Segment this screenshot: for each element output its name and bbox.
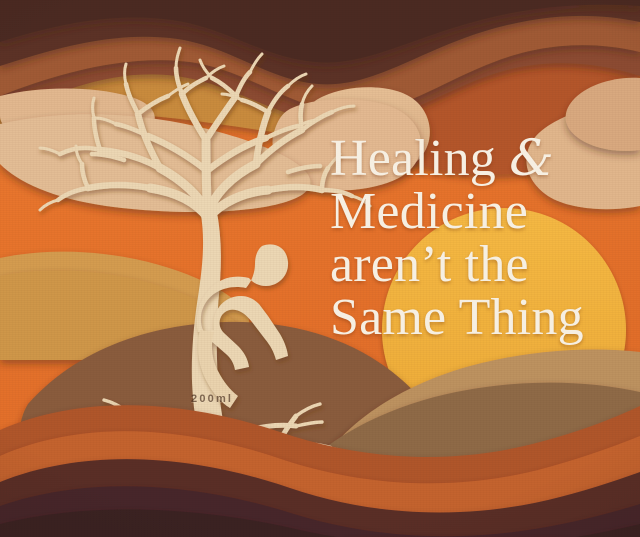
headline-line-4: Same Thing [330, 291, 640, 344]
headline-line-2: Medicine [330, 185, 640, 238]
headline-line-3: aren’t the [330, 238, 640, 291]
poster-canvas: 200ml Healing & Medicine aren’t the Same… [0, 0, 640, 537]
ampersand-glyph: & [509, 129, 554, 187]
watermark-text: 200ml [191, 393, 233, 405]
headline-line-1-text: Healing [330, 130, 496, 187]
headline-line-1: Healing & [330, 132, 640, 185]
headline-block: Healing & Medicine aren’t the Same Thing [330, 132, 640, 344]
